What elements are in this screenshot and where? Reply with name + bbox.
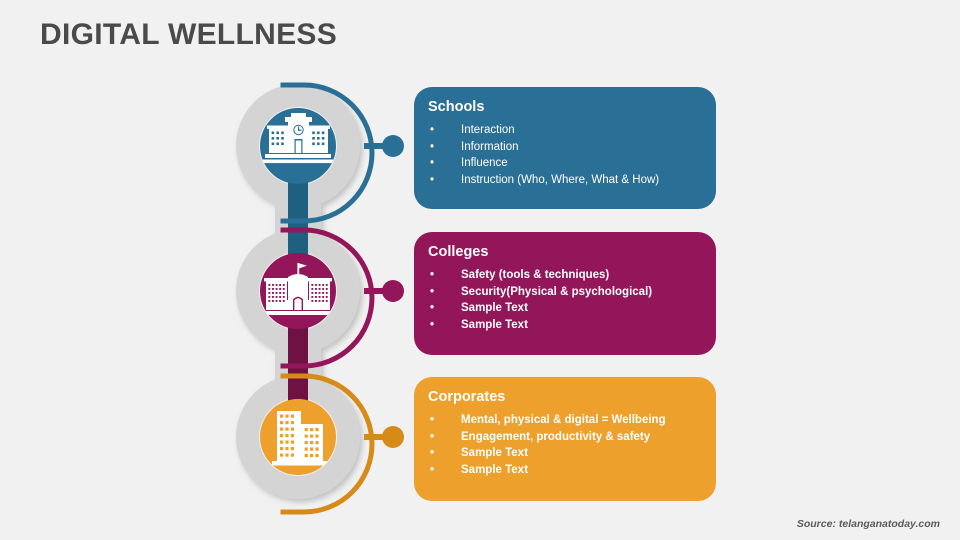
list-item: •Mental, physical & digital = Wellbeing: [428, 412, 700, 429]
list-item: •Sample Text: [428, 300, 700, 317]
node-corporates[interactable]: [260, 399, 336, 475]
panel-title-corporates: Corporates: [428, 390, 700, 406]
panel-title-colleges: Colleges: [428, 245, 700, 261]
panel-corporates[interactable]: Corporates •Mental, physical & digital =…: [414, 377, 716, 501]
bullet-icon: •: [430, 462, 434, 479]
bullet-text: Influence: [461, 157, 508, 169]
bullet-list-schools: •Interaction •Information •Influence •In…: [428, 122, 700, 188]
list-item: •Sample Text: [428, 462, 700, 479]
bullet-icon: •: [430, 412, 434, 429]
bullet-text: Engagement, productivity & safety: [461, 431, 650, 443]
bullet-icon: •: [430, 139, 434, 156]
bullet-icon: •: [430, 300, 434, 317]
list-item: •Safety (tools & techniques): [428, 267, 700, 284]
bullet-text: Sample Text: [461, 319, 528, 331]
bullet-icon: •: [430, 122, 434, 139]
node-connectors: [364, 135, 404, 448]
list-item: •Interaction: [428, 122, 700, 139]
bullet-icon: •: [430, 172, 434, 189]
bullet-icon: •: [430, 445, 434, 462]
panel-title-schools: Schools: [428, 100, 700, 116]
list-item: •Influence: [428, 155, 700, 172]
list-item: •Instruction (Who, Where, What & How): [428, 172, 700, 189]
list-item: •Engagement, productivity & safety: [428, 429, 700, 446]
panel-schools[interactable]: Schools •Interaction •Information •Influ…: [414, 87, 716, 209]
bullet-text: Sample Text: [461, 302, 528, 314]
bullet-icon: •: [430, 284, 434, 301]
source-attribution: Source: telanganatoday.com: [797, 518, 940, 530]
slide-canvas: DIGITAL WELLNESS: [0, 0, 960, 540]
panel-colleges[interactable]: Colleges •Safety (tools & techniques) •S…: [414, 232, 716, 355]
list-item: •Security(Physical & psychological): [428, 284, 700, 301]
node-schools[interactable]: [260, 108, 336, 184]
bullet-text: Security(Physical & psychological): [461, 286, 652, 298]
bullet-text: Instruction (Who, Where, What & How): [461, 174, 659, 186]
bullet-icon: •: [430, 155, 434, 172]
bullet-icon: •: [430, 317, 434, 334]
list-item: •Sample Text: [428, 445, 700, 462]
node-colleges[interactable]: [260, 253, 336, 329]
bullet-text: Sample Text: [461, 464, 528, 476]
list-item: •Information: [428, 139, 700, 156]
bullet-icon: •: [430, 267, 434, 284]
list-item: •Sample Text: [428, 317, 700, 334]
bullet-text: Information: [461, 141, 519, 153]
bullet-text: Interaction: [461, 124, 515, 136]
bullet-text: Sample Text: [461, 447, 528, 459]
bullet-text: Mental, physical & digital = Wellbeing: [461, 414, 666, 426]
bullet-list-corporates: •Mental, physical & digital = Wellbeing …: [428, 412, 700, 478]
bullet-icon: •: [430, 429, 434, 446]
bullet-text: Safety (tools & techniques): [461, 269, 609, 281]
bullet-list-colleges: •Safety (tools & techniques) •Security(P…: [428, 267, 700, 333]
